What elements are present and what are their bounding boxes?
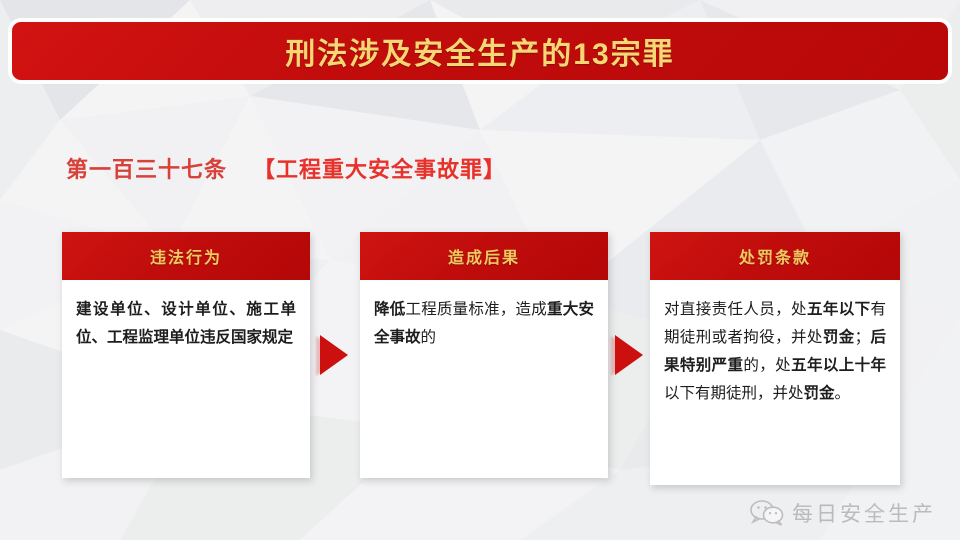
card-header-illegal-conduct: 违法行为: [62, 232, 310, 280]
page-title: 刑法涉及安全生产的13宗罪: [285, 29, 674, 73]
wechat-icon: [750, 499, 784, 527]
card-header-consequence: 造成后果: [360, 232, 608, 280]
card-header-label: 违法行为: [150, 244, 222, 268]
arrow-right-icon: [615, 335, 643, 375]
watermark: 每日安全生产: [750, 498, 936, 528]
card-body-penalty: 对直接责任人员，处五年以下有期徒刑或者拘役，并处罚金；后果特别严重的，处五年以上…: [650, 280, 900, 485]
card-header-label: 造成后果: [448, 244, 520, 268]
card-header-label: 处罚条款: [739, 244, 811, 268]
card-penalty: 处罚条款 对直接责任人员，处五年以下有期徒刑或者拘役，并处罚金；后果特别严重的，…: [650, 232, 900, 485]
article-number: 第一百三十七条: [66, 152, 227, 184]
card-body-illegal-conduct: 建设单位、设计单位、施工单位、工程监理单位违反国家规定: [62, 280, 310, 478]
slide-title-banner: 刑法涉及安全生产的13宗罪: [12, 22, 948, 80]
card-body-consequence: 降低工程质量标准，造成重大安全事故的: [360, 280, 608, 478]
slide-canvas: 刑法涉及安全生产的13宗罪 第一百三十七条 【工程重大安全事故罪】 违法行为 建…: [0, 0, 960, 540]
card-header-penalty: 处罚条款: [650, 232, 900, 280]
arrow-card1-to-card2: [320, 335, 350, 375]
article-subtitle: 第一百三十七条 【工程重大安全事故罪】: [66, 152, 506, 184]
arrow-right-icon: [320, 335, 348, 375]
arrow-card2-to-card3: [615, 335, 645, 375]
watermark-label: 每日安全生产: [792, 498, 936, 528]
card-illegal-conduct: 违法行为 建设单位、设计单位、施工单位、工程监理单位违反国家规定: [62, 232, 310, 478]
card-consequence: 造成后果 降低工程质量标准，造成重大安全事故的: [360, 232, 608, 478]
crime-name: 【工程重大安全事故罪】: [253, 152, 506, 184]
